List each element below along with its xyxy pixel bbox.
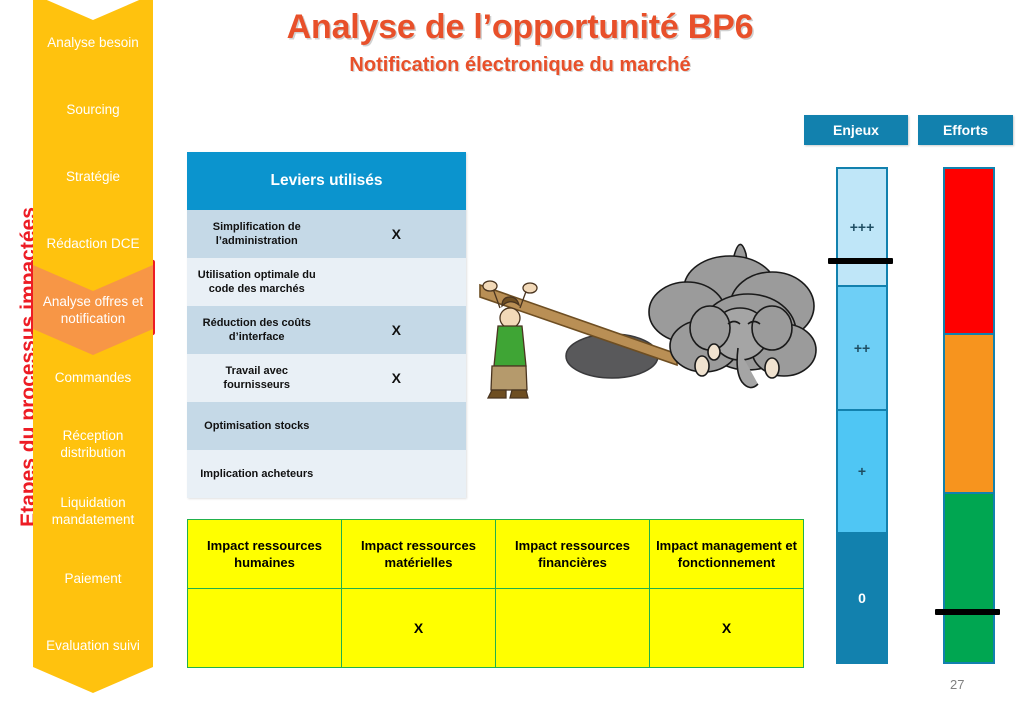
enjeux-gauge: ++++++0 [836,167,888,664]
impact-header-row: Impact ressources humainesImpact ressour… [188,520,804,589]
process-step-label: Commandes [55,369,132,386]
efforts-gauge [943,167,995,664]
leviers-row-label: Réduction des coûts d’interface [187,306,327,354]
impact-column-header: Impact management et fonctionnement [650,520,804,589]
enjeux-level-marker [828,258,893,264]
leviers-row[interactable]: Réduction des coûts d’interfaceX [187,306,466,354]
impact-column-header: Impact ressources financières [496,520,650,589]
leviers-table-head: Leviers utilisés [187,152,466,210]
efforts-gauge-segment[interactable] [945,335,993,494]
page-title: Analyse de l’opportunité BP6 [190,6,850,48]
efforts-gauge-segment[interactable] [945,494,993,662]
leviers-row-mark: X [327,210,467,258]
lever-with-elephants-illustration [472,228,822,408]
leviers-table-body: Simplification de l’administrationXUtili… [187,210,466,498]
process-step-label: Analyse besoin [47,34,139,51]
process-step-label: Paiement [64,570,121,587]
leviers-row-label: Optimisation stocks [187,402,327,450]
leviers-row-label: Implication acheteurs [187,450,327,498]
leviers-table-title: Leviers utilisés [187,152,466,210]
enjeux-gauge-segment[interactable]: + [838,411,886,534]
impact-table-head: Impact ressources humainesImpact ressour… [188,520,804,589]
impact-value-row: XX [188,589,804,668]
leviers-row-mark [327,258,467,306]
leviers-row-mark: X [327,354,467,402]
leviers-row[interactable]: Optimisation stocks [187,402,466,450]
impact-column-header: Impact ressources humaines [188,520,342,589]
process-step-label: Evaluation suivi [46,637,140,654]
process-steps-chevron-stack: Analyse besoinSourcingStratégieRédaction… [33,0,153,708]
process-step-label: Analyse offres et notification [37,293,149,327]
impact-table: Impact ressources humainesImpact ressour… [187,519,804,668]
process-step-label: Sourcing [66,101,119,118]
title-block: Analyse de l’opportunité BP6 Notificatio… [190,6,850,79]
leviers-row-mark [327,450,467,498]
impact-table-body: XX [188,589,804,668]
leviers-row-mark [327,402,467,450]
process-step-label: Liquidation mandatement [37,494,149,528]
leviers-row[interactable]: Implication acheteurs [187,450,466,498]
efforts-gauge-title: Efforts [918,115,1013,145]
page-subtitle: Notification électronique du marché [190,51,850,79]
process-step-label: Rédaction DCE [46,235,139,252]
process-step-label: Stratégie [66,168,120,185]
leviers-row-label: Travail avec fournisseurs [187,354,327,402]
leviers-row[interactable]: Simplification de l’administrationX [187,210,466,258]
process-step-label: Réception distribution [37,427,149,461]
impact-column-value[interactable]: X [342,589,496,668]
slide-canvas: Etapes du processus impactées Analyse be… [0,0,1023,708]
leviers-row-label: Simplification de l’administration [187,210,327,258]
efforts-level-marker [935,609,1000,615]
page-number: 27 [950,677,990,692]
impact-column-value[interactable] [496,589,650,668]
impact-column-value[interactable]: X [650,589,804,668]
enjeux-gauge-segment[interactable]: +++ [838,169,886,287]
leviers-row[interactable]: Utilisation optimale du code des marchés [187,258,466,306]
leviers-table: Leviers utilisés Simplification de l’adm… [187,152,466,498]
leviers-header-row: Leviers utilisés [187,152,466,210]
enjeux-gauge-segment[interactable]: 0 [838,534,886,662]
efforts-gauge-segment[interactable] [945,169,993,335]
enjeux-gauge-segment[interactable]: ++ [838,287,886,410]
leviers-row[interactable]: Travail avec fournisseursX [187,354,466,402]
enjeux-gauge-title: Enjeux [804,115,908,145]
impact-column-value[interactable] [188,589,342,668]
impact-column-header: Impact ressources matérielles [342,520,496,589]
leviers-row-label: Utilisation optimale du code des marchés [187,258,327,306]
leviers-row-mark: X [327,306,467,354]
